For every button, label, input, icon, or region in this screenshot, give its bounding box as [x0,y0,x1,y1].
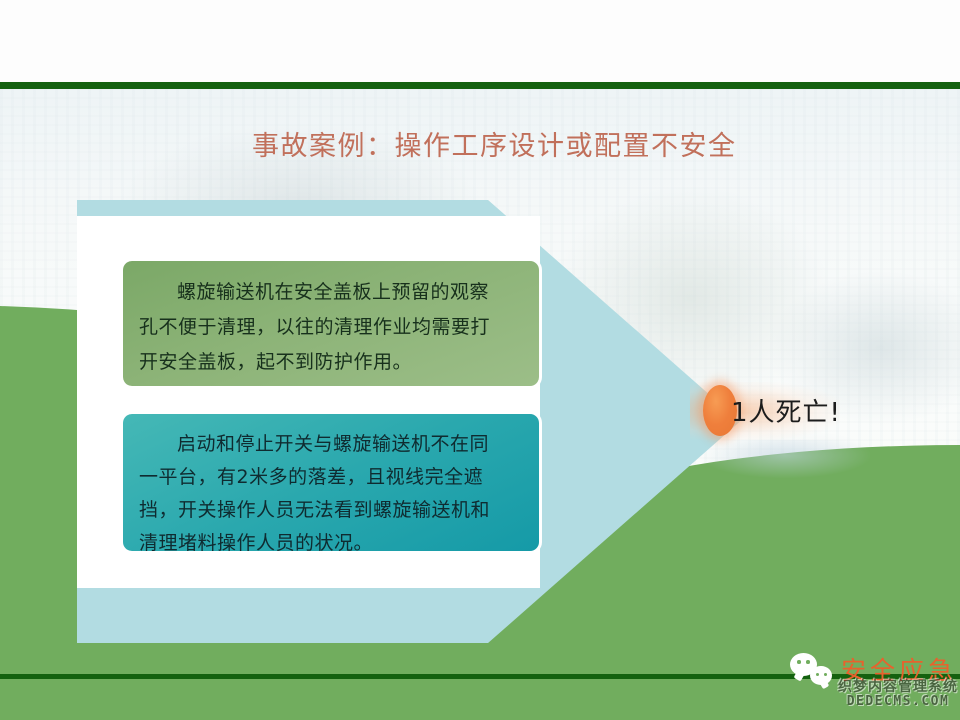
watermark-line-chinese: 织梦内容管理系统 [838,680,958,695]
cause-box-teal-line-3: 挡，开关操作人员无法看到螺旋输送机和 [139,494,523,527]
cause-box-green-line-1: 螺旋输送机在安全盖板上预留的观察 [139,275,523,310]
cause-box-teal-line-4: 清理堵料操作人员的状况。 [139,527,523,560]
watermark-line-domain: DEDECMS.COM [838,695,958,709]
cause-box-teal-line-1: 启动和停止开关与螺旋输送机不在同 [139,428,523,461]
fatality-callout-text: 1人死亡! [731,392,841,429]
cause-box-teal: 启动和停止开关与螺旋输送机不在同 一平台，有2米多的落差，且视线完全遮 挡，开关… [120,411,542,554]
site-watermark: 织梦内容管理系统 DEDECMS.COM [838,680,958,708]
cause-box-green: 螺旋输送机在安全盖板上预留的观察 孔不便于清理，以往的清理作业均需要打 开安全盖… [120,258,542,389]
wechat-icon [790,653,832,685]
page-title: 事故案例：操作工序设计或配置不安全 [252,124,737,163]
cause-box-green-line-2: 孔不便于清理，以往的清理作业均需要打 [139,310,523,345]
cause-box-green-line-3: 开安全盖板，起不到防护作用。 [139,345,523,380]
callout-shadow [700,440,870,478]
presentation-slide: 事故案例：操作工序设计或配置不安全 螺旋输送机在安全盖板上预留的观察 孔不便于清… [0,0,960,720]
top-divider-rule [0,82,960,89]
cause-box-teal-line-2: 一平台，有2米多的落差，且视线完全遮 [139,461,523,494]
